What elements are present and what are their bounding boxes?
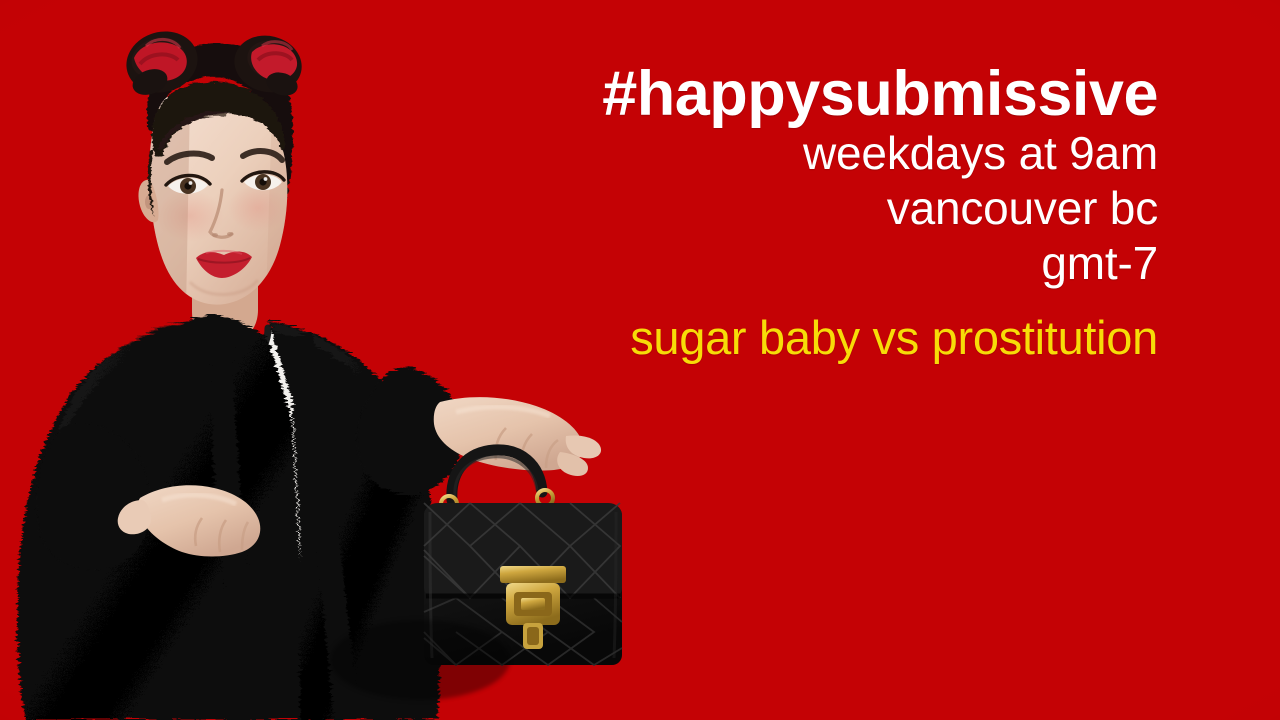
schedule-line-location: vancouver bc <box>602 181 1158 236</box>
promo-graphic: #happysubmissive weekdays at 9am vancouv… <box>0 0 1280 720</box>
episode-topic: sugar baby vs prostitution <box>602 312 1158 364</box>
woman-figure <box>0 0 660 720</box>
show-title: #happysubmissive <box>602 62 1158 126</box>
promo-text-block: #happysubmissive weekdays at 9am vancouv… <box>602 62 1158 364</box>
schedule-line-timezone: gmt-7 <box>602 236 1158 291</box>
schedule-line-time: weekdays at 9am <box>602 126 1158 181</box>
